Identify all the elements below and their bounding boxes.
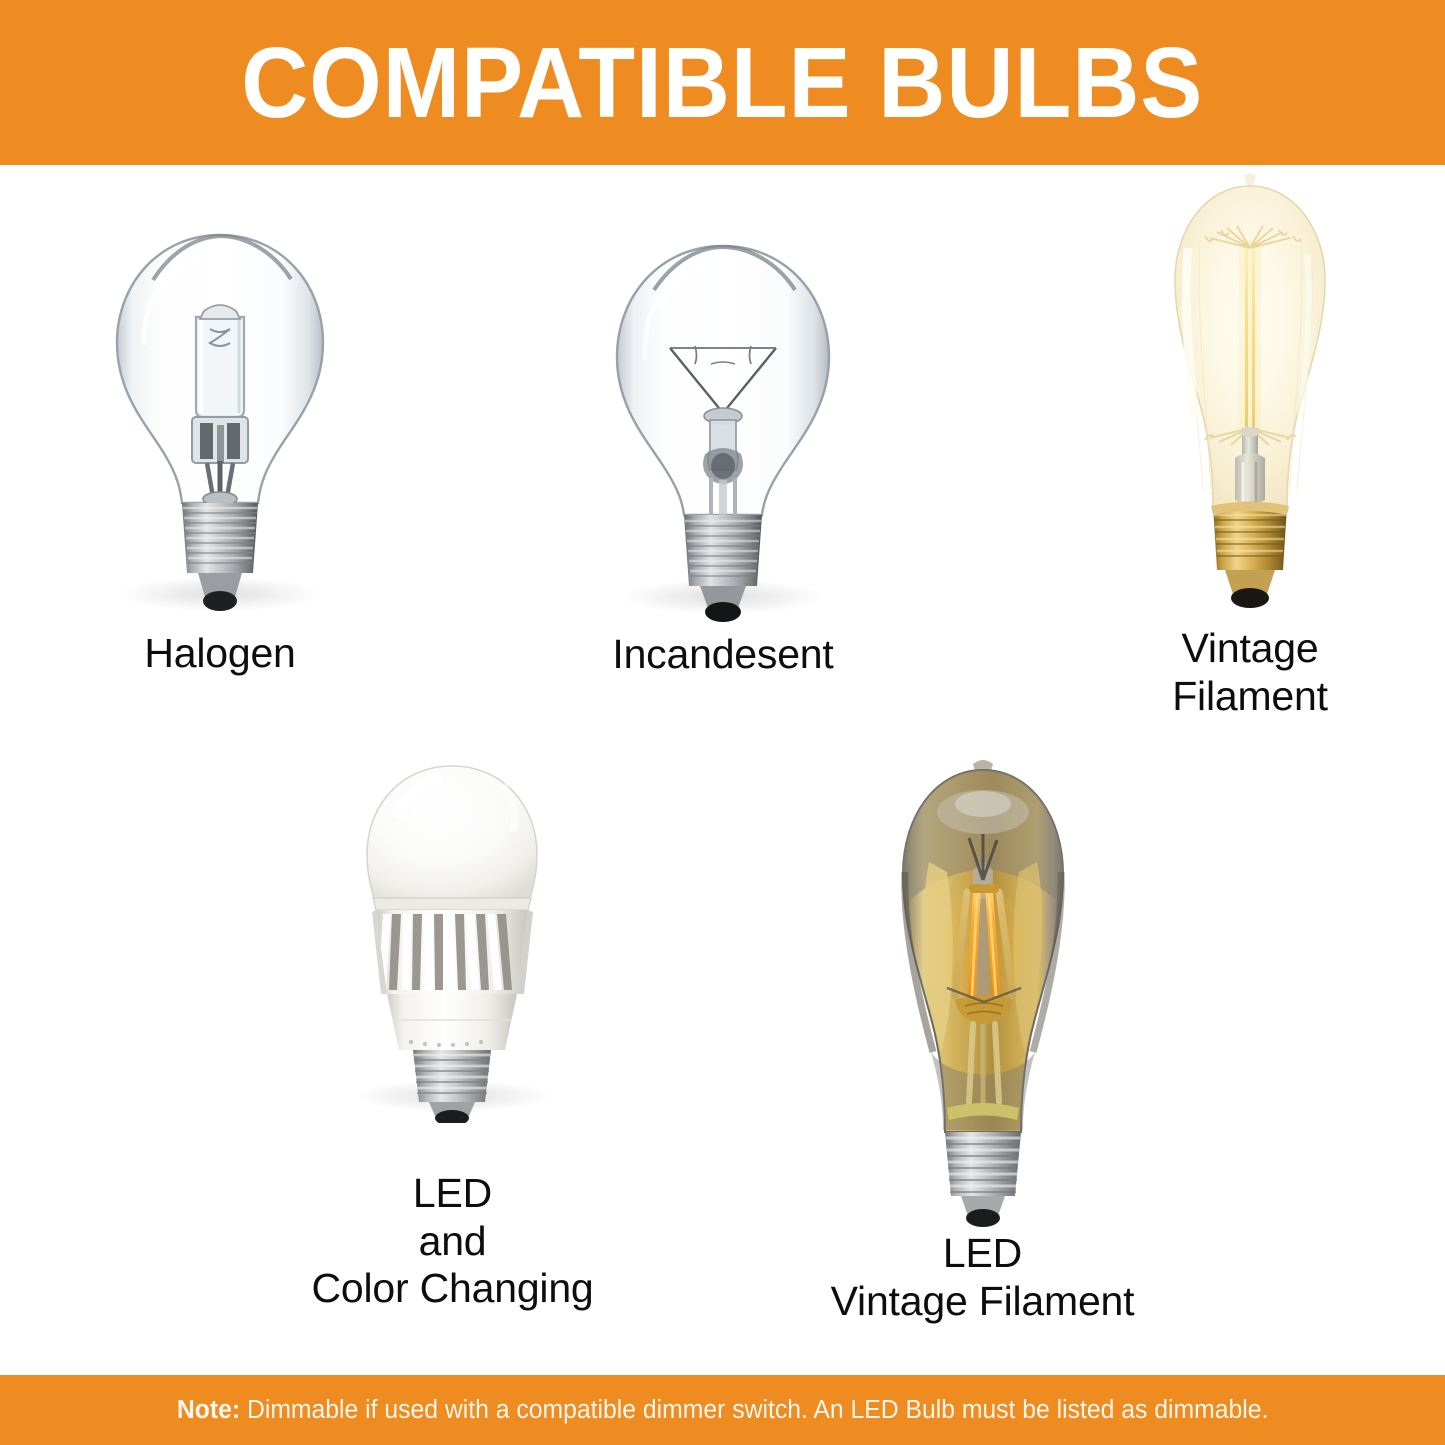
bulb-caption-led-vintage-filament: LED Vintage Filament	[730, 1230, 1235, 1325]
bulb-card-incandescent: Incandesent	[598, 238, 848, 626]
halogen-bulb-icon	[95, 225, 345, 625]
bulb-caption-led: LED and Color Changing	[235, 1170, 670, 1313]
led-vintage-filament-bulb-icon	[885, 752, 1080, 1232]
bulb-caption-incandescent: Incandesent	[588, 631, 858, 679]
bulb-card-led: LED and Color Changing	[345, 758, 560, 1120]
footer-note-label: Note:	[177, 1396, 240, 1424]
bulb-caption-halogen: Halogen	[85, 630, 355, 678]
bulb-card-halogen: Halogen	[95, 225, 345, 625]
footer-note: Note: Dimmable if used with a compatible…	[177, 1396, 1269, 1425]
header-banner: COMPATIBLE BULBS	[0, 0, 1445, 165]
footer-note-banner: Note: Dimmable if used with a compatible…	[0, 1375, 1445, 1445]
page-title: COMPATIBLE BULBS	[241, 33, 1203, 133]
led-bulb-icon	[345, 758, 560, 1123]
bulb-card-vintage-filament: Vintage Filament	[1155, 170, 1345, 625]
incandescent-bulb-icon	[598, 238, 848, 628]
bulb-card-led-vintage-filament: LED Vintage Filament	[885, 752, 1080, 1232]
bulb-caption-vintage-filament: Vintage Filament	[1110, 625, 1390, 720]
footer-note-text: Dimmable if used with a compatible dimme…	[240, 1396, 1268, 1424]
vintage-filament-bulb-icon	[1155, 170, 1345, 625]
